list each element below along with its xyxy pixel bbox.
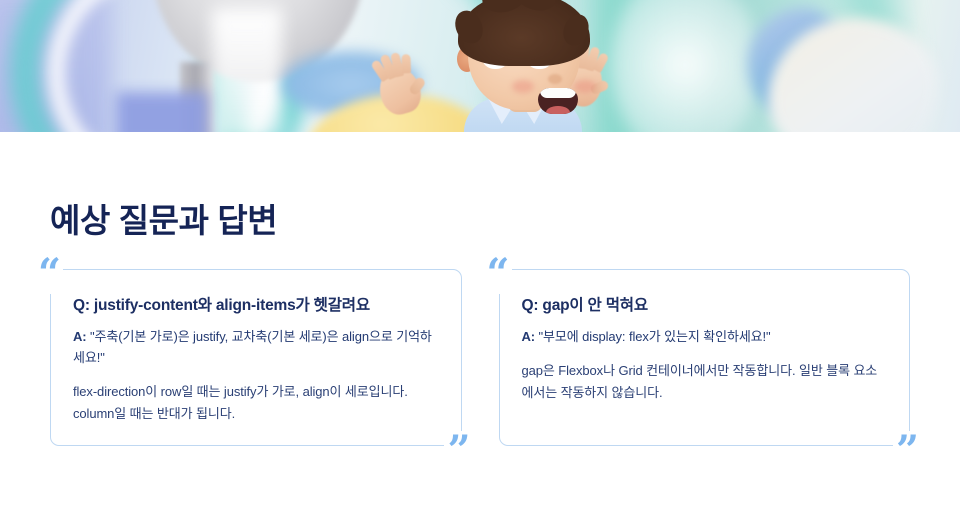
qa-question: Q: justify-content와 align-items가 헷갈려요 <box>73 296 437 317</box>
page-title: 예상 질문과 답변 <box>50 204 910 237</box>
character-tongue <box>546 106 570 114</box>
character-cheek-right <box>574 80 596 93</box>
character-teeth <box>540 88 576 98</box>
hero-banner <box>0 0 960 132</box>
hero-lavender-block <box>116 92 208 132</box>
qa-answer-label: A: <box>73 329 87 344</box>
quote-open-icon: “ <box>484 254 512 294</box>
hero-illustration <box>0 0 960 132</box>
quote-close-icon: ” <box>893 431 921 471</box>
character-mouth <box>538 88 578 114</box>
quote-close-icon: ” <box>444 431 472 471</box>
quote-open-icon: “ <box>35 254 63 294</box>
character-cheek-left <box>512 80 534 93</box>
qa-card-list: “ Q: justify-content와 align-items가 헷갈려요 … <box>50 269 910 446</box>
qa-question: Q: gap이 안 먹혀요 <box>522 296 886 317</box>
character-nose <box>548 74 562 84</box>
hero-character-boy <box>430 0 640 132</box>
qa-body: gap은 Flexbox나 Grid 컨테이너에서만 작동합니다. 일반 블록 … <box>522 360 886 404</box>
qa-answer-label: A: <box>522 329 536 344</box>
qa-answer-text: "주축(기본 가로)은 justify, 교차축(기본 세로)은 align으로… <box>73 329 432 365</box>
qa-card: “ Q: justify-content와 align-items가 헷갈려요 … <box>50 269 462 446</box>
qa-answer: A: "주축(기본 가로)은 justify, 교차축(기본 세로)은 alig… <box>73 326 437 368</box>
main-content: 예상 질문과 답변 “ Q: justify-content와 align-it… <box>0 204 960 446</box>
qa-answer: A: "부모에 display: flex가 있는지 확인하세요!" <box>522 326 886 347</box>
hero-lamp-glow <box>212 8 282 132</box>
qa-answer-text: "부모에 display: flex가 있는지 확인하세요!" <box>535 329 771 344</box>
qa-card: “ Q: gap이 안 먹혀요 A: "부모에 display: flex가 있… <box>499 269 911 446</box>
qa-body: flex-direction이 row일 때는 justify가 가로, ali… <box>73 381 437 425</box>
